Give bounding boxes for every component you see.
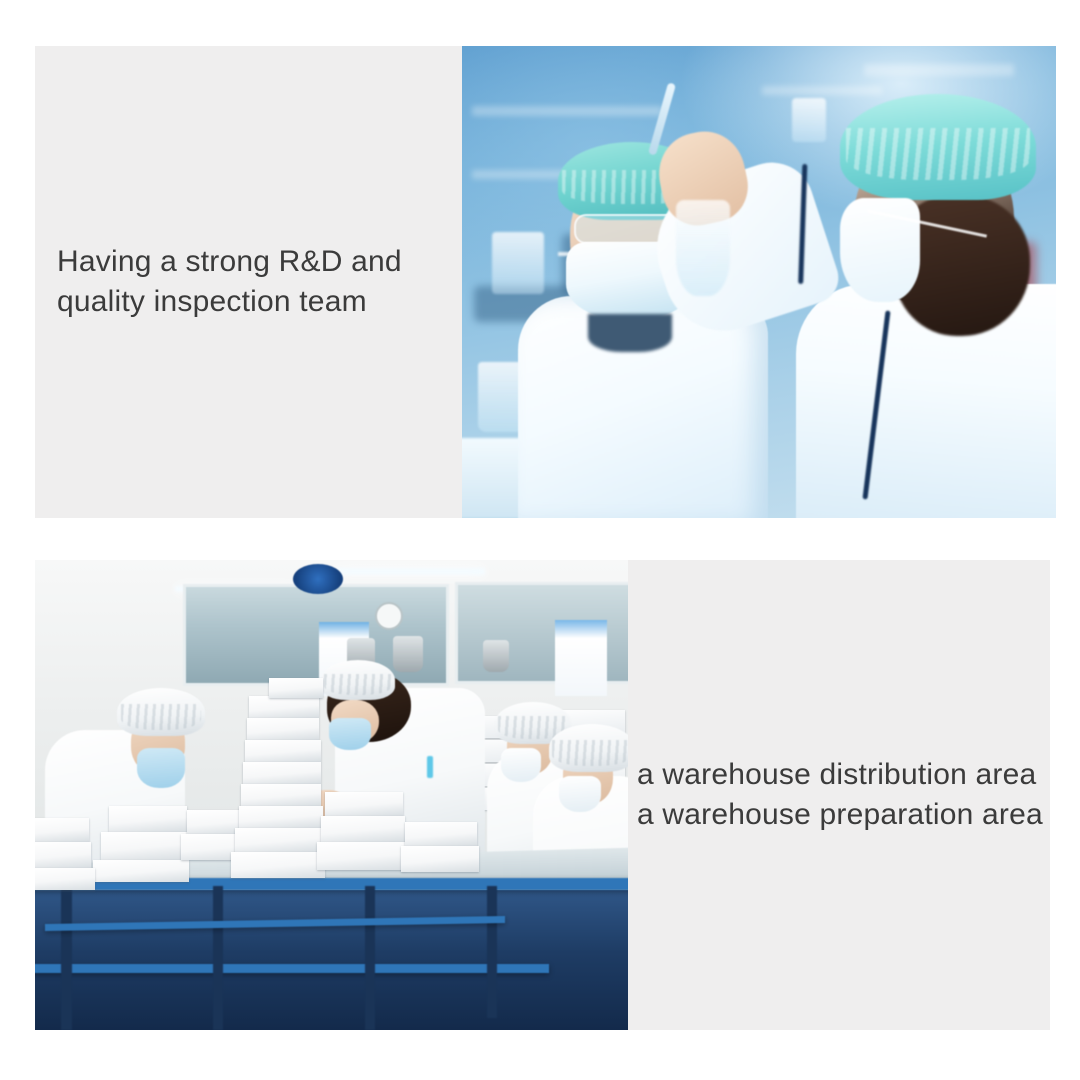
warehouse-packing-photo <box>35 560 628 1030</box>
rd-quality-caption: Having a strong R&D and quality inspecti… <box>57 242 402 321</box>
rd-quality-caption-line-1: Having a strong R&D and <box>57 242 402 282</box>
warehouse-caption: a warehouse distribution area a warehous… <box>637 755 1043 834</box>
warehouse-caption-panel: a warehouse distribution area a warehous… <box>628 560 1050 1030</box>
flask-icon <box>676 200 730 296</box>
wall-poster-icon-2 <box>555 620 607 696</box>
hairnet-icon-2 <box>840 94 1036 200</box>
page-root: Having a strong R&D and quality inspecti… <box>0 0 1080 1080</box>
rd-quality-caption-panel: Having a strong R&D and quality inspecti… <box>35 46 462 518</box>
warehouse-caption-line-2: a warehouse preparation area <box>637 795 1043 835</box>
rd-quality-caption-line-2: quality inspection team <box>57 282 402 322</box>
section-rd-quality: Having a strong R&D and quality inspecti… <box>35 46 1056 518</box>
lab-quality-inspection-photo <box>462 46 1056 518</box>
warehouse-caption-line-1: a warehouse distribution area <box>637 755 1043 795</box>
section-warehouse: a warehouse distribution area a warehous… <box>35 560 1050 1030</box>
wall-sign-icon <box>293 564 343 594</box>
clock-icon <box>375 602 403 630</box>
